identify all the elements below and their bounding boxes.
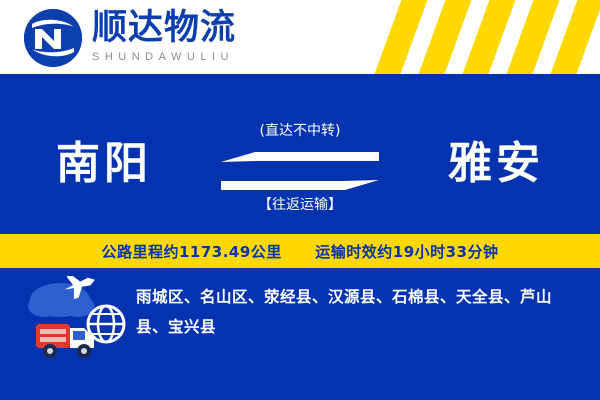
- brand-name-cn: 顺达物流: [92, 8, 236, 48]
- distance-text: 公路里程约1173.49公里: [101, 243, 281, 261]
- info-bar: 公路里程约1173.49公里 运输时效约19小时33分钟: [0, 234, 600, 268]
- destination-city: 雅安: [448, 138, 544, 190]
- logistics-route-poster: 顺达物流 SHUNDAWULIU 南阳 雅安 (直达不中转) 【往返运输】: [0, 0, 600, 400]
- info-bar-text: 公路里程约1173.49公里 运输时效约19小时33分钟: [101, 241, 498, 262]
- poster-body: 南阳 雅安 (直达不中转) 【往返运输】 公路里程约1173.49公里 运输时效…: [0, 74, 600, 400]
- route-section: 南阳 雅安 (直达不中转) 【往返运输】: [0, 96, 600, 236]
- coverage-area-list: 雨城区、名山区、荥经县、汉源县、石棉县、天全县、芦山县、宝兴县: [136, 282, 566, 342]
- swoosh-n-logo-icon: [24, 9, 82, 67]
- origin-city: 南阳: [56, 138, 152, 190]
- route-note-bottom: 【往返运输】: [200, 196, 400, 214]
- header: 顺达物流 SHUNDAWULIU: [0, 0, 600, 74]
- coverage-section: 雨城区、名山区、荥经县、汉源县、石棉县、天全县、芦山县、宝兴县: [0, 268, 600, 400]
- route-middle: (直达不中转) 【往返运输】: [200, 122, 400, 214]
- brand-text: 顺达物流 SHUNDAWULIU: [92, 8, 236, 64]
- double-arrow-icon: [221, 150, 379, 190]
- header-stripes: [370, 0, 600, 74]
- truck-globe-plane-icon: [26, 276, 130, 368]
- brand-logo: 顺达物流 SHUNDAWULIU: [24, 8, 236, 67]
- brand-name-en: SHUNDAWULIU: [92, 50, 236, 64]
- route-note-top: (直达不中转): [200, 122, 400, 140]
- duration-text: 运输时效约19小时33分钟: [315, 243, 498, 261]
